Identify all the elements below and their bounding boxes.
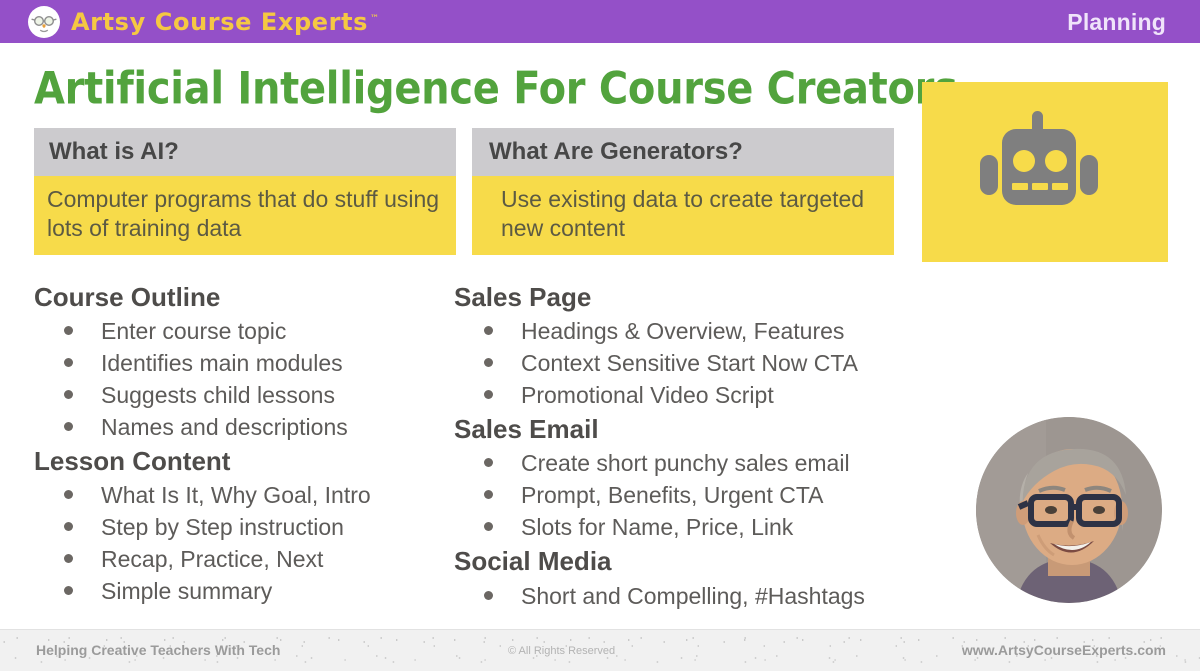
definition-card-what-is-ai: What is AI? Computer programs that do st… <box>34 128 456 255</box>
bullet-dot-icon <box>64 390 73 399</box>
list-item-label: Promotional Video Script <box>521 379 774 411</box>
group-heading: Course Outline <box>34 282 446 313</box>
list-item-label: Slots for Name, Price, Link <box>521 511 793 543</box>
definition-card-header: What is AI? <box>34 128 456 176</box>
footer-tagline: Helping Creative Teachers With Tech <box>36 642 280 658</box>
bullet-dot-icon <box>64 326 73 335</box>
list-item: Short and Compelling, #Hashtags <box>454 580 944 612</box>
avatar <box>976 417 1162 603</box>
brand-name-text: Artsy Course Experts <box>71 8 368 36</box>
definition-card-heading: What Are Generators? <box>489 138 743 166</box>
definition-card-body-text: Use existing data to create targeted new… <box>501 185 882 244</box>
definition-card-heading: What is AI? <box>49 138 179 166</box>
list-item-label: Identifies main modules <box>101 347 343 379</box>
list-item-label: Step by Step instruction <box>101 511 344 543</box>
definition-card-body-text: Computer programs that do stuff using lo… <box>47 185 444 244</box>
content-group: Sales Page Headings & Overview, Features… <box>454 282 944 411</box>
group-heading: Social Media <box>454 546 944 577</box>
nerd-face-glasses-icon <box>28 6 60 38</box>
bullet-dot-icon <box>64 554 73 563</box>
list-item: Suggests child lessons <box>34 379 446 411</box>
robot-illustration-tile <box>922 82 1168 262</box>
bullet-dot-icon <box>64 422 73 431</box>
bullet-dot-icon <box>484 591 493 600</box>
list-item-label: Recap, Practice, Next <box>101 543 323 575</box>
bullet-dot-icon <box>64 522 73 531</box>
footer-website[interactable]: www.ArtsyCourseExperts.com <box>962 642 1166 658</box>
trademark-symbol: ™ <box>370 14 380 24</box>
group-heading: Sales Email <box>454 414 944 445</box>
top-header-bar: Artsy Course Experts™ Planning <box>0 0 1200 43</box>
brand-name: Artsy Course Experts™ <box>71 8 380 36</box>
list-item: Prompt, Benefits, Urgent CTA <box>454 479 944 511</box>
group-heading: Lesson Content <box>34 446 446 477</box>
list-item-label: Enter course topic <box>101 315 286 347</box>
section-label: Planning <box>1067 9 1166 36</box>
list-item-label: Headings & Overview, Features <box>521 315 844 347</box>
list-item: Create short punchy sales email <box>454 447 944 479</box>
list-item: Enter course topic <box>34 315 446 347</box>
brand-block[interactable]: Artsy Course Experts™ <box>28 6 380 38</box>
list-item: Simple summary <box>34 575 446 607</box>
list-item-label: What Is It, Why Goal, Intro <box>101 479 371 511</box>
list-item-label: Simple summary <box>101 575 272 607</box>
group-bullet-list: What Is It, Why Goal, Intro Step by Step… <box>34 479 446 607</box>
list-item: Step by Step instruction <box>34 511 446 543</box>
definition-card-what-are-generators: What Are Generators? Use existing data t… <box>472 128 894 255</box>
list-item-label: Names and descriptions <box>101 411 348 443</box>
page-title: Artificial Intelligence For Course Creat… <box>34 63 958 115</box>
bullet-dot-icon <box>484 458 493 467</box>
list-item: Headings & Overview, Features <box>454 315 944 347</box>
list-item-label: Create short punchy sales email <box>521 447 850 479</box>
content-group: Social Media Short and Compelling, #Hash… <box>454 546 944 611</box>
definition-card-header: What Are Generators? <box>472 128 894 176</box>
bullet-dot-icon <box>484 326 493 335</box>
content-group: Course Outline Enter course topic Identi… <box>34 282 446 443</box>
content-column-left: Course Outline Enter course topic Identi… <box>34 282 446 610</box>
content-group: Sales Email Create short punchy sales em… <box>454 414 944 543</box>
list-item-label: Prompt, Benefits, Urgent CTA <box>521 479 824 511</box>
list-item: Context Sensitive Start Now CTA <box>454 347 944 379</box>
list-item-label: Context Sensitive Start Now CTA <box>521 347 858 379</box>
robot-head-icon <box>970 107 1120 237</box>
group-bullet-list: Enter course topic Identifies main modul… <box>34 315 446 443</box>
list-item-label: Short and Compelling, #Hashtags <box>521 580 865 612</box>
footer-bar: Helping Creative Teachers With Tech © Al… <box>0 629 1200 671</box>
definition-card-body: Use existing data to create targeted new… <box>472 176 894 255</box>
footer-copyright: © All Rights Reserved <box>508 645 615 657</box>
list-item: Slots for Name, Price, Link <box>454 511 944 543</box>
group-heading: Sales Page <box>454 282 944 313</box>
list-item: Recap, Practice, Next <box>34 543 446 575</box>
list-item: What Is It, Why Goal, Intro <box>34 479 446 511</box>
bullet-dot-icon <box>64 586 73 595</box>
bullet-dot-icon <box>484 522 493 531</box>
content-column-right: Sales Page Headings & Overview, Features… <box>454 282 944 615</box>
bullet-dot-icon <box>64 358 73 367</box>
group-bullet-list: Short and Compelling, #Hashtags <box>454 580 944 612</box>
list-item-label: Suggests child lessons <box>101 379 335 411</box>
bullet-dot-icon <box>64 490 73 499</box>
list-item: Names and descriptions <box>34 411 446 443</box>
definition-card-body: Computer programs that do stuff using lo… <box>34 176 456 255</box>
group-bullet-list: Create short punchy sales email Prompt, … <box>454 447 944 543</box>
group-bullet-list: Headings & Overview, Features Context Se… <box>454 315 944 411</box>
bullet-dot-icon <box>484 390 493 399</box>
bullet-dot-icon <box>484 490 493 499</box>
list-item: Promotional Video Script <box>454 379 944 411</box>
content-group: Lesson Content What Is It, Why Goal, Int… <box>34 446 446 607</box>
bullet-dot-icon <box>484 358 493 367</box>
list-item: Identifies main modules <box>34 347 446 379</box>
